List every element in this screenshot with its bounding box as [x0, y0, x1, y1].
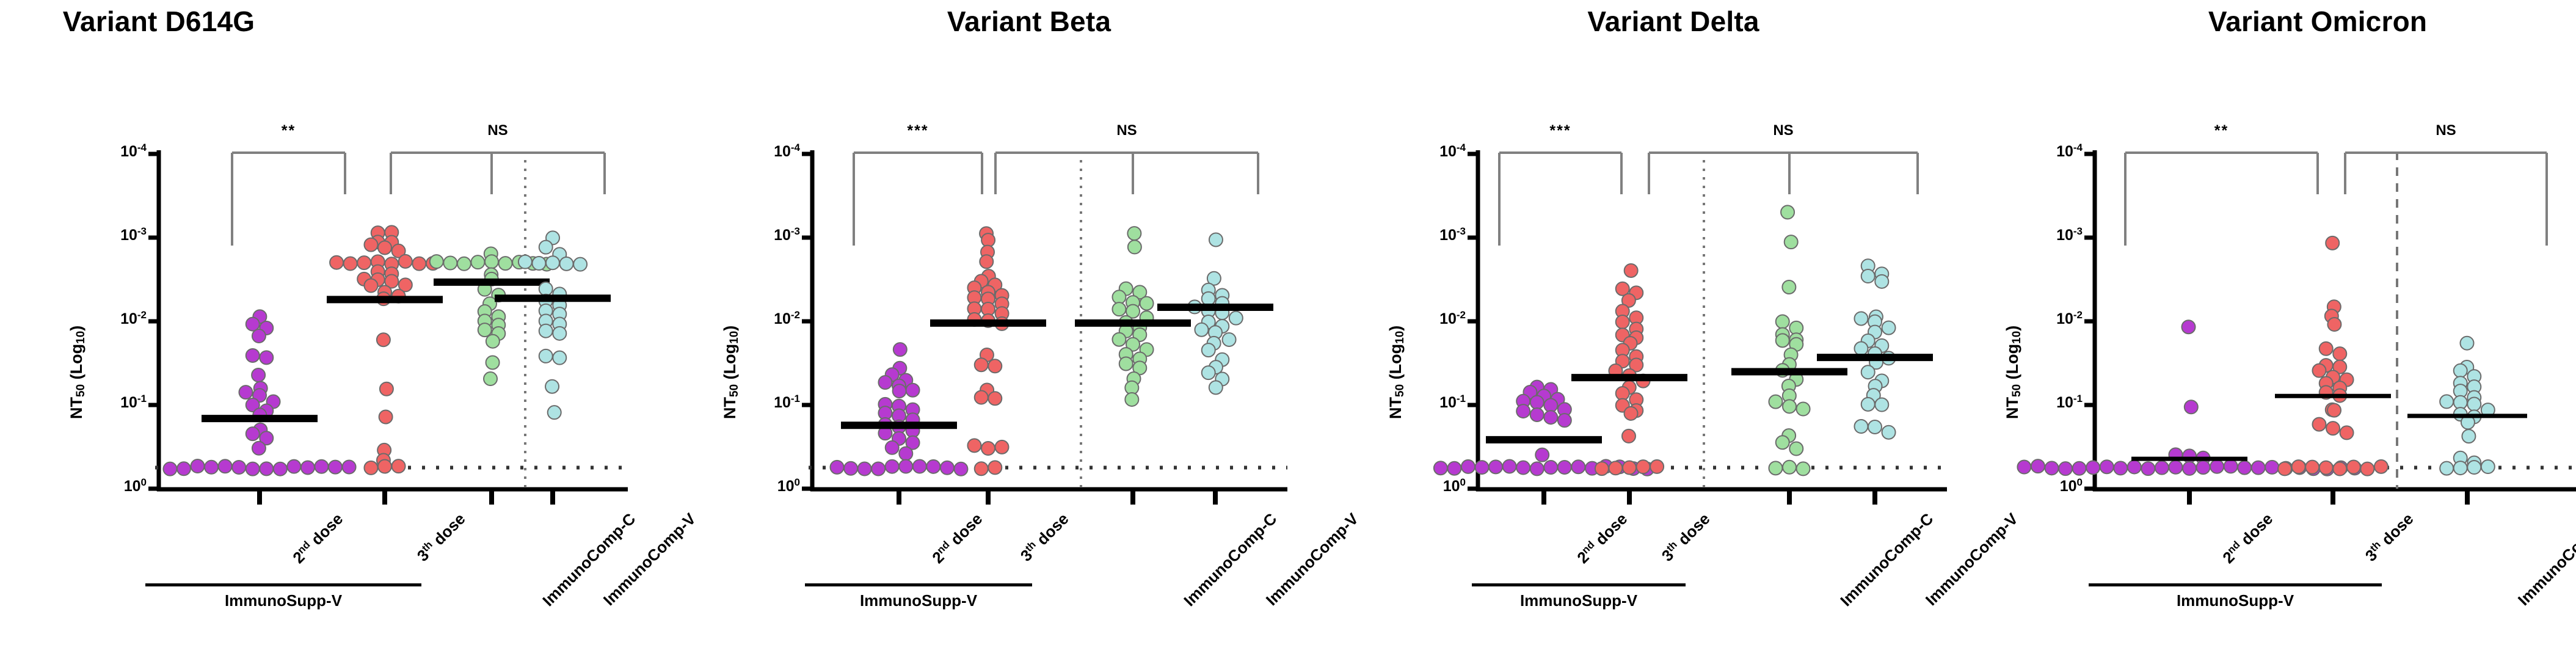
data-point [1783, 399, 1796, 413]
data-point [1861, 365, 1875, 379]
data-point [1783, 461, 1796, 474]
data-point [1530, 396, 1544, 409]
data-point [2319, 342, 2333, 356]
data-point [392, 459, 406, 473]
y-axis-title: NT50 (Log10) [67, 326, 86, 419]
y-tick-label: 100 [2019, 478, 2083, 495]
data-point [1489, 460, 1502, 473]
data-point [1623, 461, 1636, 475]
data-point [886, 441, 899, 454]
data-point [246, 349, 260, 362]
data-point [499, 257, 512, 270]
data-point [539, 349, 553, 363]
significance-label: ** [2148, 122, 2295, 140]
data-point [430, 255, 443, 268]
y-axis-title: NT50 (Log10) [2003, 326, 2022, 419]
data-point [1571, 460, 1585, 473]
group-bracket-bar [1472, 583, 1686, 586]
data-point [301, 461, 315, 474]
data-point [878, 376, 892, 389]
data-point [252, 442, 266, 455]
data-point [1461, 460, 1475, 473]
data-point [1544, 461, 1557, 474]
data-point [457, 257, 471, 271]
series-immunocomp-v [495, 231, 611, 419]
data-point [926, 460, 940, 473]
data-point [343, 460, 356, 473]
data-point [252, 329, 266, 343]
data-point [246, 462, 260, 476]
y-tick-label: 10-4 [2019, 143, 2083, 161]
data-point [988, 392, 1002, 405]
data-point [893, 343, 907, 356]
data-point [995, 440, 1009, 454]
data-point [471, 255, 484, 269]
data-point [1797, 402, 1810, 415]
data-point [2374, 460, 2388, 473]
data-point [1882, 426, 1896, 439]
data-point [2169, 461, 2182, 474]
data-point [2292, 460, 2305, 473]
data-point [1776, 436, 1789, 449]
group-bracket-bar [2089, 583, 2382, 586]
data-point [1544, 410, 1557, 424]
series-immunocomp-c [1731, 205, 1847, 475]
data-point [357, 256, 371, 269]
data-point [329, 461, 342, 474]
data-point [1140, 297, 1154, 310]
y-tick-label: 10-3 [1402, 227, 1466, 244]
data-point [975, 391, 988, 404]
data-point [1776, 334, 1789, 347]
series-3th-dose [930, 227, 1046, 475]
data-point [539, 282, 553, 296]
data-point [954, 462, 967, 476]
data-point [378, 241, 391, 254]
data-point [2059, 462, 2072, 475]
y-axis-title: NT50 (Log10) [721, 326, 740, 419]
y-tick-label: 10-3 [83, 227, 147, 244]
data-point [330, 256, 343, 269]
data-point [205, 461, 218, 474]
data-point [486, 356, 500, 369]
data-point [377, 333, 390, 346]
data-point [287, 460, 300, 473]
data-point [518, 255, 532, 269]
data-point [2238, 461, 2251, 475]
data-point [1535, 448, 1549, 462]
data-point [378, 460, 391, 473]
data-point [546, 256, 559, 269]
data-point [2252, 461, 2265, 475]
series-2nd-dose [163, 310, 355, 475]
data-point [1868, 420, 1882, 434]
data-point [2312, 418, 2326, 431]
data-point [2114, 461, 2127, 475]
data-point [1622, 429, 1635, 443]
group-bracket-label: ImmunoSupp-V [768, 591, 1069, 610]
data-point [2045, 461, 2059, 475]
data-point [1127, 227, 1141, 240]
significance-label: *** [845, 122, 991, 140]
figure-root: Variant D614G10-410-310-210-1100NT50 (Lo… [0, 0, 2576, 664]
data-point [1195, 323, 1208, 337]
data-point [1223, 333, 1236, 346]
data-point [2347, 461, 2360, 474]
data-point [219, 459, 232, 473]
y-tick-label: 10-4 [737, 143, 800, 161]
y-tick-label: 10-4 [83, 143, 147, 161]
data-point [1782, 280, 1796, 294]
significance-label: ** [216, 122, 362, 140]
data-point [1530, 462, 1544, 475]
y-tick-label: 10-1 [1402, 394, 1466, 412]
data-point [1202, 366, 1215, 379]
significance-brackets [232, 153, 605, 246]
data-point [2467, 398, 2481, 411]
data-point [906, 384, 920, 397]
y-tick-label: 10-3 [737, 227, 800, 244]
data-point [1769, 461, 1782, 475]
data-point [252, 368, 265, 382]
data-point [532, 257, 545, 270]
series-3th-dose [1571, 264, 1687, 475]
data-point [2440, 462, 2453, 475]
data-point [344, 257, 357, 271]
data-point [246, 427, 260, 440]
y-tick-label: 10-2 [1402, 310, 1466, 328]
data-point [886, 460, 899, 473]
data-point [191, 459, 205, 473]
data-point [163, 462, 176, 476]
group-bracket-label: ImmunoSupp-V [109, 591, 458, 610]
group-bracket-bar [805, 583, 1032, 586]
y-tick-label: 100 [737, 478, 800, 495]
y-axis-title: NT50 (Log10) [1386, 326, 1405, 419]
series-immunocomp-v [1817, 259, 1933, 439]
data-point [2278, 462, 2291, 475]
chart-panel-4: Variant Omicron10-410-310-210-1100NT50 (… [1954, 0, 2576, 664]
data-point [232, 461, 246, 474]
data-point [484, 372, 497, 385]
data-point [2440, 395, 2453, 408]
data-point [177, 462, 191, 475]
data-point [2086, 461, 2100, 474]
group-bracket-bar [145, 583, 421, 586]
data-point [2017, 461, 2031, 474]
data-point [2326, 236, 2339, 250]
data-point [573, 258, 587, 271]
data-point [941, 461, 954, 475]
data-point [1882, 321, 1896, 335]
data-point [2031, 459, 2045, 473]
data-point [1128, 240, 1141, 254]
data-point [2197, 461, 2210, 474]
data-point [1558, 414, 1571, 427]
data-point [2460, 337, 2473, 350]
series-3th-dose [2275, 236, 2391, 476]
data-point [1785, 235, 1798, 249]
data-point [967, 439, 981, 452]
data-point [975, 462, 988, 475]
plot-area [0, 0, 647, 664]
series-2nd-dose [831, 343, 968, 476]
data-point [2185, 400, 2198, 414]
data-point [1119, 357, 1133, 370]
data-point [1530, 408, 1544, 421]
data-point [1861, 398, 1875, 411]
significance-brackets [854, 153, 1258, 246]
significance-label: NS [1053, 122, 1200, 139]
data-point [1202, 343, 1215, 357]
y-tick-label: 100 [83, 478, 147, 495]
data-point [1781, 205, 1794, 219]
data-point [980, 255, 993, 268]
data-point [1625, 264, 1638, 277]
data-point [1625, 407, 1638, 420]
y-tick-label: 10-1 [2019, 394, 2083, 412]
data-point [893, 384, 906, 398]
data-point [1650, 460, 1664, 473]
data-point [560, 257, 573, 271]
data-point [2141, 462, 2155, 475]
data-point [364, 461, 377, 475]
data-point [2327, 404, 2341, 417]
chart-panel-3: Variant Delta10-410-310-210-1100NT50 (Lo… [1313, 0, 1954, 664]
data-point [315, 460, 328, 473]
data-point [2333, 347, 2346, 360]
data-point [2340, 426, 2354, 439]
series-immunocomp-v [1157, 233, 1273, 394]
data-point [913, 460, 926, 473]
data-point [2326, 421, 2340, 435]
data-point [1447, 462, 1461, 475]
data-point [1209, 381, 1223, 394]
data-point [2360, 462, 2374, 476]
series-immunocomp-c [1075, 227, 1191, 406]
data-point [1875, 398, 1888, 412]
chart-panel-2: Variant Beta10-410-310-210-1100NT50 (Log… [647, 0, 1313, 664]
data-point [412, 257, 426, 271]
data-point [988, 461, 1002, 474]
data-point [486, 335, 500, 348]
data-point [1558, 461, 1571, 474]
series-3th-dose [327, 225, 443, 475]
data-point [2333, 462, 2346, 476]
data-point [1595, 462, 1609, 475]
plot-area [1313, 0, 1954, 664]
data-point [1503, 459, 1516, 473]
data-point [831, 461, 844, 474]
data-point [2481, 460, 2495, 473]
data-point [2265, 461, 2279, 474]
data-point [2319, 461, 2333, 475]
data-point [380, 382, 393, 396]
significance-label: NS [1710, 122, 1857, 139]
data-point [1776, 315, 1789, 328]
data-point [981, 442, 995, 455]
y-tick-label: 10-2 [2019, 310, 2083, 328]
significance-label: NS [2373, 122, 2519, 139]
data-point [553, 327, 566, 340]
data-point [1769, 395, 1782, 409]
significance-brackets [2125, 153, 2547, 246]
data-point [2467, 461, 2481, 474]
group-bracket-label: ImmunoSupp-V [1435, 591, 1722, 610]
data-point [858, 462, 871, 475]
data-point [2454, 364, 2467, 378]
data-point [1209, 233, 1223, 246]
data-point [539, 241, 553, 254]
plot-area [1954, 0, 2576, 664]
data-point [1854, 312, 1868, 325]
series-immunocomp-v [2407, 337, 2527, 475]
y-tick-label: 10-1 [83, 394, 147, 412]
data-point [485, 255, 498, 268]
y-tick-label: 10-2 [737, 310, 800, 328]
data-point [2312, 364, 2326, 378]
data-point [1229, 312, 1243, 325]
data-point [2181, 320, 2195, 334]
y-tick-label: 10-2 [83, 310, 147, 328]
data-point [1112, 333, 1126, 346]
significance-label: *** [1487, 122, 1634, 140]
data-point [1516, 404, 1530, 418]
data-point [1789, 442, 1803, 456]
data-point [2155, 461, 2169, 475]
data-point [1202, 292, 1215, 305]
data-point [988, 359, 1002, 373]
data-point [2224, 459, 2238, 473]
data-point [1875, 275, 1888, 288]
data-point [478, 323, 492, 337]
data-point [364, 279, 377, 293]
group-bracket-label: ImmunoSupp-V [2052, 591, 2418, 610]
data-point [2462, 429, 2475, 443]
data-point [2327, 318, 2341, 331]
data-point [1125, 393, 1138, 406]
data-point [1854, 420, 1868, 433]
data-point [2454, 461, 2467, 475]
data-point [364, 238, 377, 252]
data-point [2183, 462, 2196, 475]
data-point [2210, 460, 2224, 473]
data-point [443, 257, 457, 270]
data-point [1637, 460, 1650, 473]
data-point [539, 324, 553, 338]
data-point [2128, 460, 2141, 473]
data-point [1112, 290, 1126, 304]
data-point [1112, 302, 1126, 316]
y-tick-label: 10-4 [1402, 143, 1466, 161]
data-point [1434, 461, 1447, 475]
data-point [1475, 461, 1489, 474]
data-point [260, 462, 273, 475]
data-point [1609, 461, 1622, 475]
significance-brackets [1499, 153, 1918, 246]
data-point [246, 318, 260, 331]
y-tick-label: 10-1 [737, 394, 800, 412]
data-point [2305, 461, 2319, 474]
data-point [975, 358, 988, 371]
data-point [274, 462, 287, 476]
data-point [2100, 460, 2114, 473]
data-point [871, 462, 885, 475]
data-point [1797, 462, 1810, 475]
significance-label: NS [424, 122, 571, 139]
data-point [548, 406, 561, 419]
data-point [1616, 315, 1629, 329]
data-point [379, 410, 393, 424]
data-point [1516, 461, 1530, 475]
chart-panel-1: Variant D614G10-410-310-210-1100NT50 (Lo… [0, 0, 647, 664]
data-point [1861, 269, 1875, 283]
data-point [2073, 462, 2086, 475]
data-point [399, 255, 412, 268]
data-point [899, 447, 912, 460]
data-point [899, 460, 912, 473]
y-tick-label: 100 [1402, 478, 1466, 495]
data-point [1854, 342, 1868, 356]
y-tick-label: 10-3 [2019, 227, 2083, 244]
data-point [553, 351, 566, 365]
data-point [844, 462, 857, 475]
data-point [260, 351, 273, 364]
data-point [239, 385, 252, 399]
data-point [545, 380, 559, 393]
